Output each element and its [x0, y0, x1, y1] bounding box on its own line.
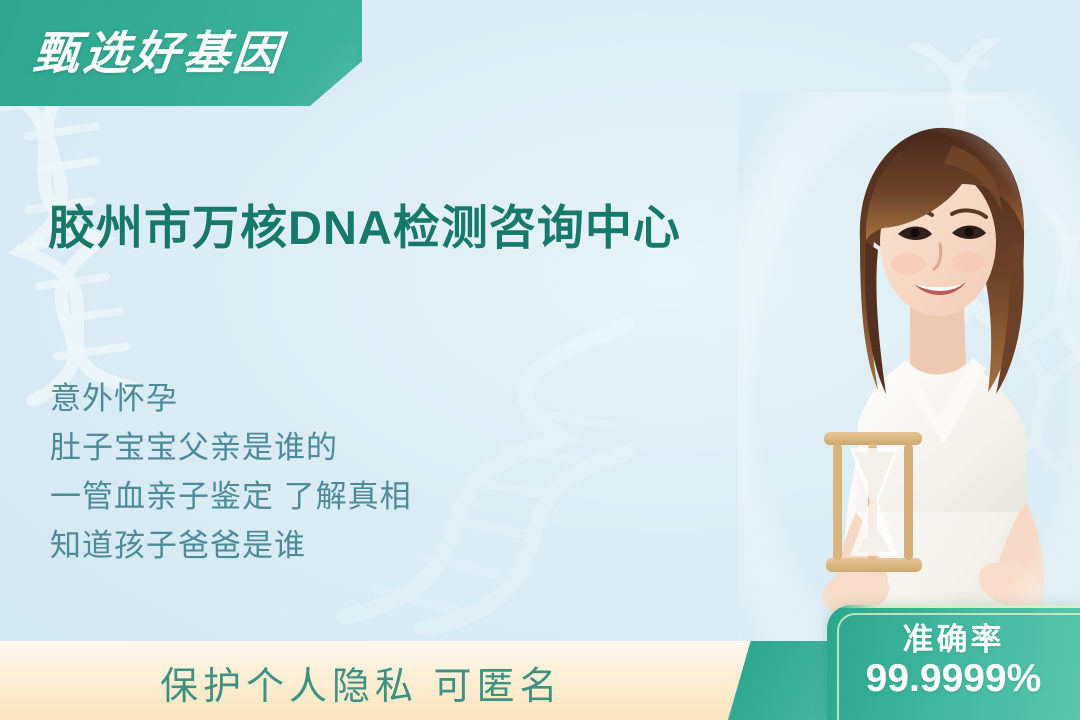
- accuracy-value: 99.9999%: [866, 657, 1042, 701]
- dna-helix-icon: [988, 204, 1080, 476]
- accuracy-label: 准确率: [903, 624, 1005, 657]
- copy-line-2: 肚子宝宝父亲是谁的: [50, 423, 412, 472]
- dna-helix-icon: [895, 36, 1046, 344]
- promo-poster: 甄选好基因 胶州市万核DNA检测咨询中心 意外怀孕 肚子宝宝父亲是谁的 一管血亲…: [0, 0, 1080, 720]
- page-title: 胶州市万核DNA检测咨询中心: [48, 189, 681, 258]
- copy-line-4: 知道孩子爸爸是谁: [50, 521, 412, 570]
- accuracy-badge: 准确率 99.9999%: [827, 605, 1080, 720]
- model-photo: [738, 92, 1080, 682]
- privacy-tagline: 保护个人隐私 可匿名: [160, 655, 563, 710]
- body-copy: 意外怀孕 肚子宝宝父亲是谁的 一管血亲子鉴定 了解真相 知道孩子爸爸是谁: [50, 374, 412, 570]
- copy-line-3: 一管血亲子鉴定 了解真相: [50, 472, 412, 521]
- copy-line-1: 意外怀孕: [50, 374, 412, 423]
- brand-banner-text: 甄选好基因: [31, 17, 288, 83]
- brand-banner: 甄选好基因: [0, 0, 362, 106]
